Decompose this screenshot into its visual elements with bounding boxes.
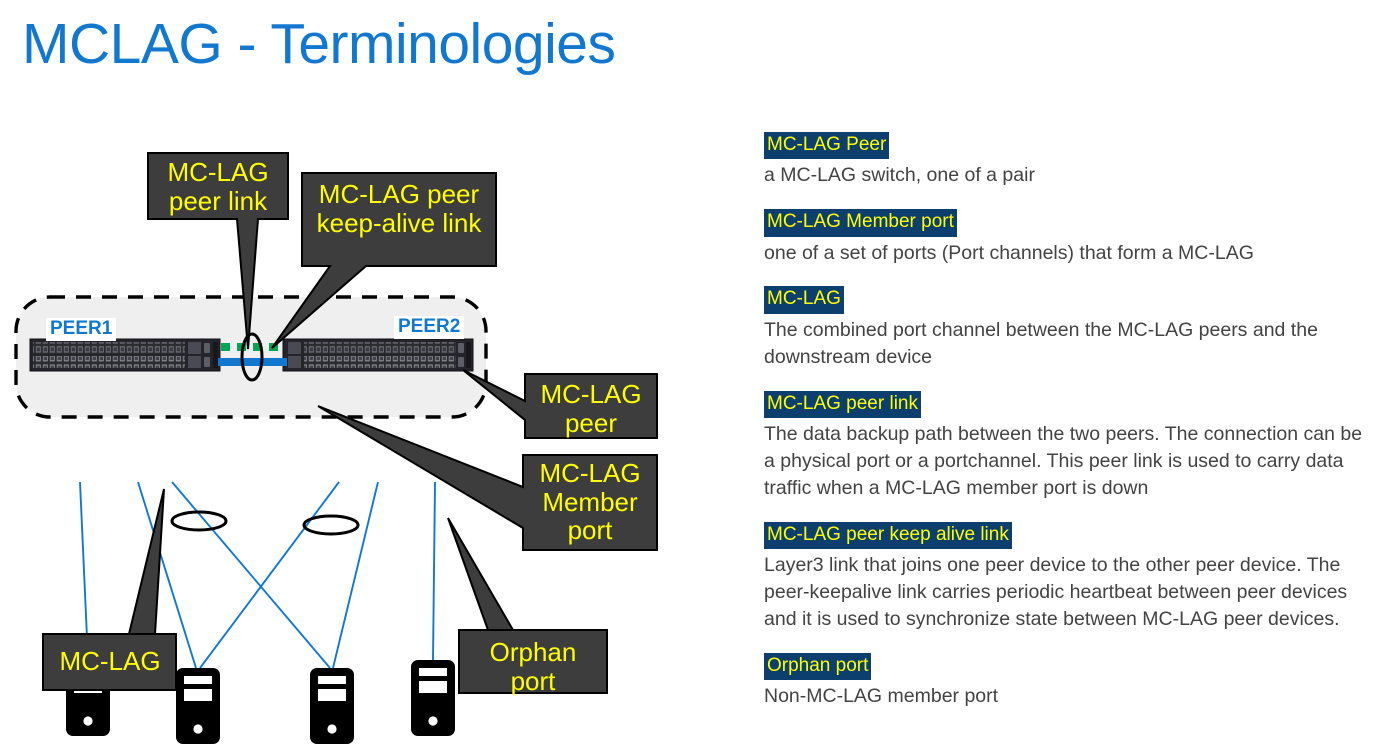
lag-bundle-ellipse-2: [304, 516, 358, 534]
term-body: The data backup path between the two pee…: [764, 421, 1370, 502]
term-heading: MC-LAG: [764, 286, 844, 313]
term-body: Layer3 link that joins one peer device t…: [764, 552, 1370, 633]
term-block-orphan-port: Orphan port Non-MC-LAG member port: [764, 653, 1370, 710]
callout-shape-mclag: [43, 489, 176, 690]
server-icon-4: [411, 660, 455, 736]
term-block-mclag-peer: MC-LAG Peer a MC-LAG switch, one of a pa…: [764, 132, 1370, 189]
switch-peer2: [283, 339, 473, 371]
term-block-mclag-peer-link: MC-LAG peer link The data backup path be…: [764, 391, 1370, 502]
term-body: Non-MC-LAG member port: [764, 683, 1370, 710]
term-heading: MC-LAG peer keep alive link: [764, 522, 1012, 549]
mclag-topology-diagram: PEER1 PEER2 MC-LAG peer link MC-LAG peer…: [0, 120, 740, 746]
term-heading: Orphan port: [764, 653, 871, 680]
peer2-label: PEER2: [394, 316, 464, 339]
server-icon-3: [310, 668, 354, 744]
term-body: The combined port channel between the MC…: [764, 317, 1370, 371]
switch-peer1: [30, 339, 220, 371]
terminology-list: MC-LAG Peer a MC-LAG switch, one of a pa…: [764, 132, 1370, 710]
term-block-mclag-peer-keep-alive-link: MC-LAG peer keep alive link Layer3 link …: [764, 522, 1370, 633]
page-title: MCLAG - Terminologies: [22, 16, 615, 73]
term-block-mclag-member-port: MC-LAG Member port one of a set of ports…: [764, 209, 1370, 266]
member-link-p2-s2: [200, 482, 339, 668]
topology-svg: [0, 120, 740, 746]
term-body: one of a set of ports (Port channels) th…: [764, 240, 1370, 267]
peer1-label: PEER1: [46, 318, 116, 341]
member-link-p2-s3: [333, 482, 378, 668]
term-heading: MC-LAG Member port: [764, 209, 957, 236]
callout-shape-mclag-peer: [463, 370, 657, 438]
term-block-mclag: MC-LAG The combined port channel between…: [764, 286, 1370, 370]
term-heading: MC-LAG Peer: [764, 132, 889, 159]
term-body: a MC-LAG switch, one of a pair: [764, 162, 1370, 189]
term-heading: MC-LAG peer link: [764, 391, 921, 418]
member-link-p1-s3: [172, 482, 330, 668]
server-icon-2: [176, 668, 220, 744]
orphan-link-right: [433, 482, 435, 660]
